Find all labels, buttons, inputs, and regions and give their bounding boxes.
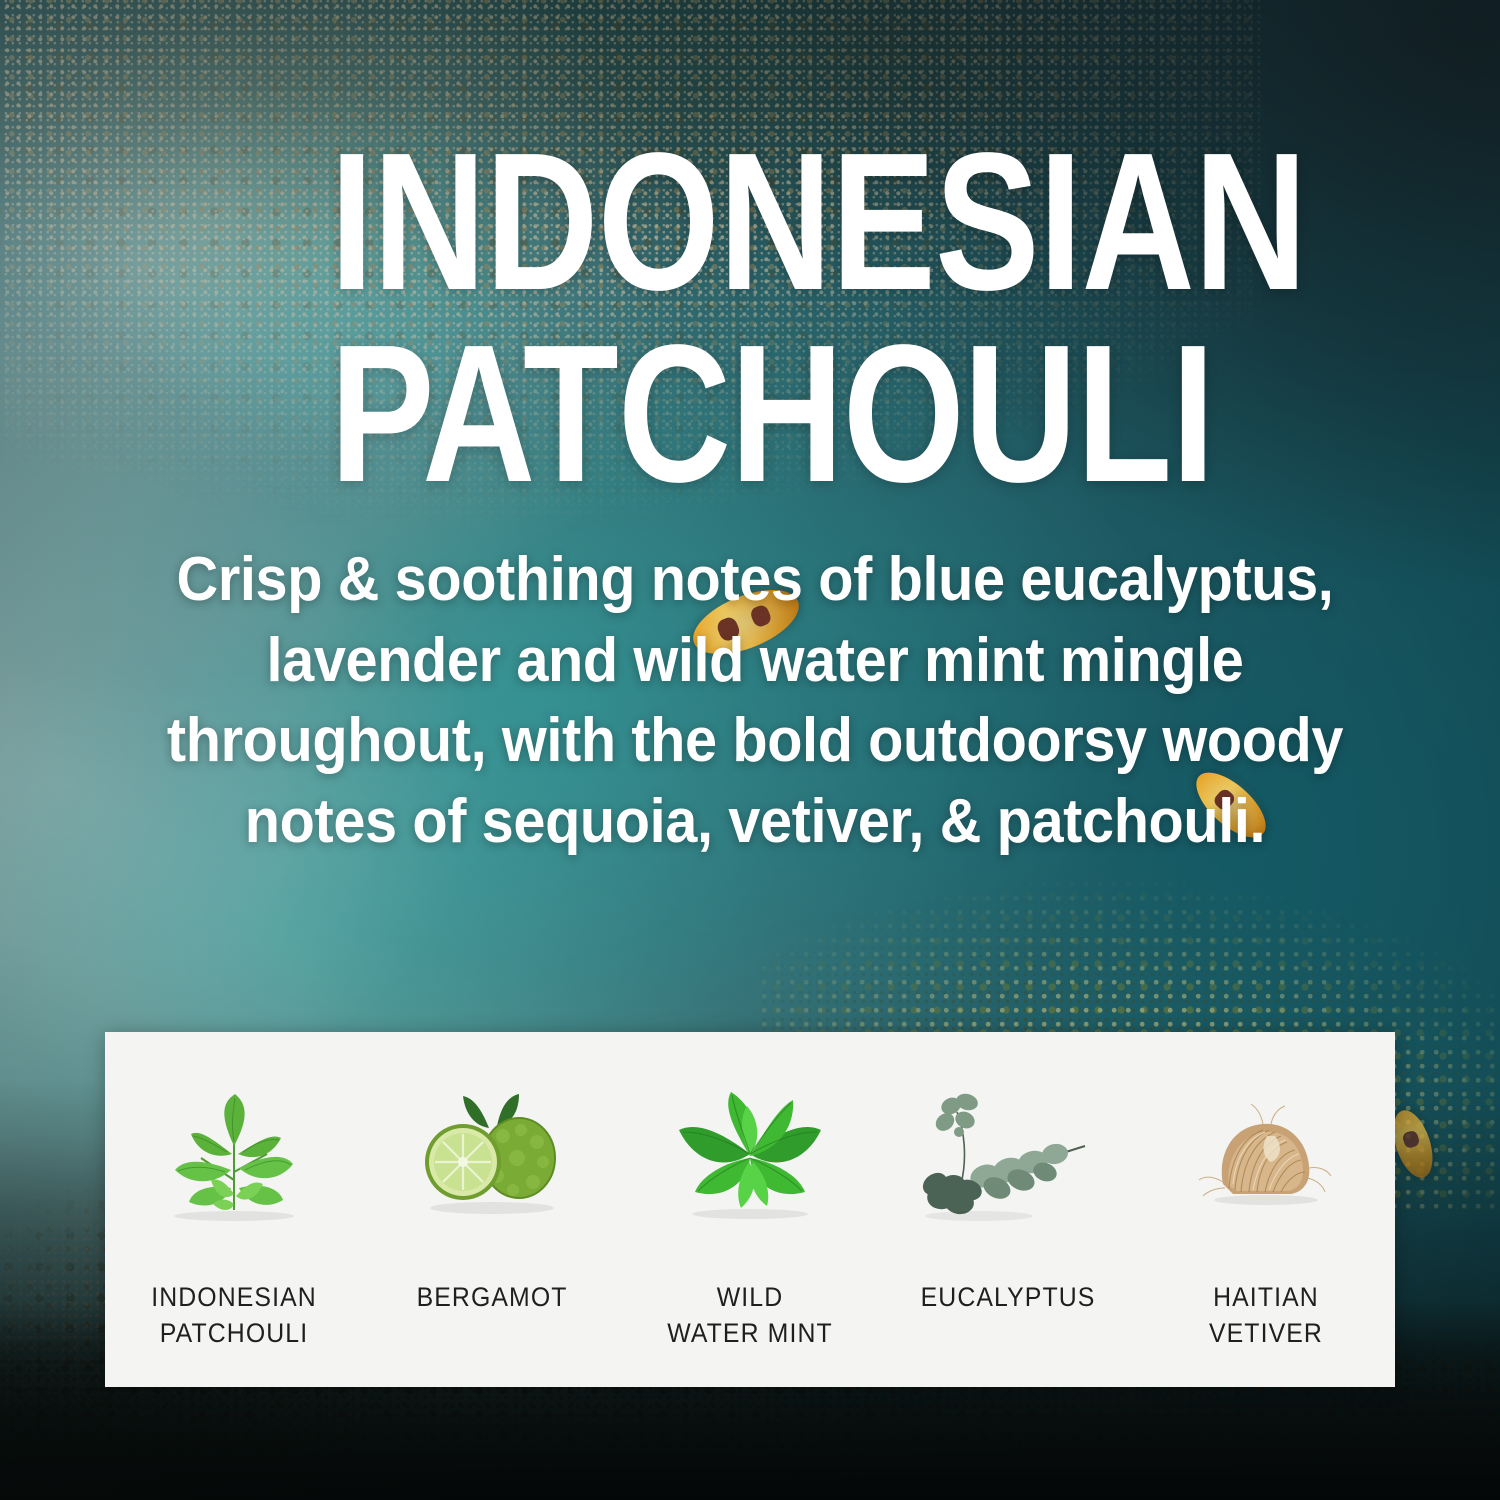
fragrance-description: Crisp & soothing notes of blue eucalyptu…: [164, 540, 1345, 862]
ingredient-label: HAITIAN VETIVER: [1209, 1280, 1323, 1351]
eucalyptus-branch-icon: [913, 1084, 1103, 1224]
ingredient-label: WILD WATER MINT: [667, 1280, 833, 1351]
ingredient-item: HAITIAN VETIVER: [1137, 1032, 1395, 1387]
content-overlay: INDONESIAN PATCHOULI Crisp & soothing no…: [0, 0, 1500, 1500]
ingredient-panel: INDONESIAN PATCHOULI: [105, 1032, 1395, 1387]
mint-leaves-icon: [655, 1084, 845, 1224]
ingredient-item: BERGAMOT: [363, 1032, 621, 1387]
ingredient-label: BERGAMOT: [417, 1280, 568, 1316]
ingredient-label: INDONESIAN PATCHOULI: [151, 1280, 317, 1351]
bergamot-fruit-icon: [397, 1084, 587, 1224]
ingredient-item: EUCALYPTUS: [879, 1032, 1137, 1387]
patchouli-leaves-icon: [139, 1084, 329, 1224]
ingredient-item: WILD WATER MINT: [621, 1032, 879, 1387]
page-title: INDONESIAN PATCHOULI: [330, 126, 1178, 510]
ingredient-label: EUCALYPTUS: [921, 1280, 1096, 1316]
vetiver-roots-icon: [1171, 1084, 1361, 1224]
ingredient-item: INDONESIAN PATCHOULI: [105, 1032, 363, 1387]
